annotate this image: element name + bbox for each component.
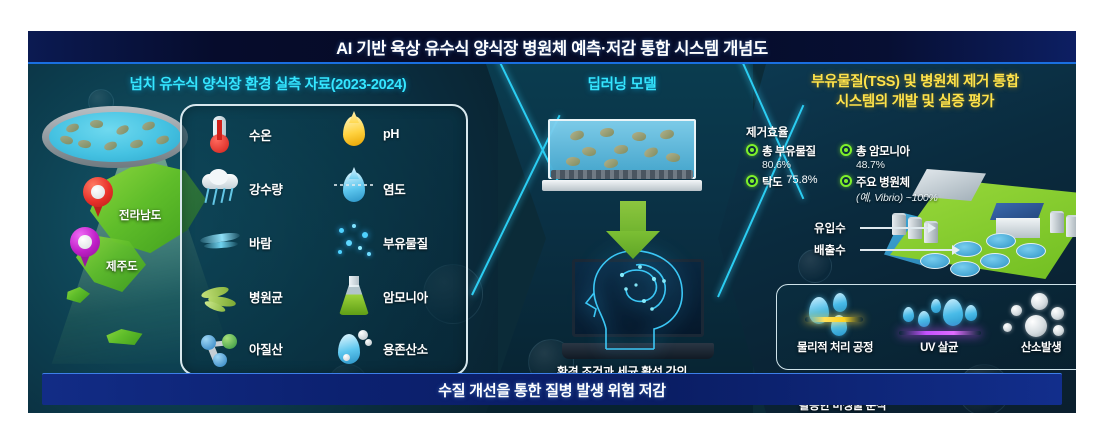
- green-down-arrow-icon: [606, 201, 660, 259]
- bullet-icon: [840, 144, 852, 156]
- parameter-row: 수온: [200, 114, 271, 154]
- infographic-poster: AI 기반 육상 유수식 양식장 병원체 예측·저감 통합 시스템 개념도 넙치…: [28, 31, 1076, 413]
- treatment-label: 산소발생: [989, 339, 1076, 355]
- efficiency-name: 총 부유물질: [762, 143, 816, 159]
- map-pin-label-jeollanamdo: 전라남도: [119, 207, 161, 223]
- flow-line-effluent: [860, 249, 952, 251]
- parameter-label: pH: [383, 127, 399, 141]
- thermometer-icon: [200, 114, 240, 154]
- bullet-icon: [840, 175, 852, 187]
- parameter-row: 강수량: [200, 168, 283, 208]
- efficiency-value: 80.6%: [762, 159, 816, 171]
- oxygen-generation-icon: [989, 291, 1076, 339]
- parameter-label: 수온: [249, 125, 271, 144]
- parameter-label: 용존산소: [383, 339, 428, 358]
- right-heading-line2: 시스템의 개발 및 실증 평가: [750, 93, 1076, 113]
- water-drop-ph-icon: [334, 114, 374, 154]
- parameter-label: 부유물질: [383, 233, 428, 252]
- flow-arrow-influent-icon: [928, 223, 936, 233]
- treatment-label: 물리적 처리 공정: [783, 339, 887, 355]
- parameter-row: 암모니아: [334, 276, 428, 316]
- efficiency-name: 주요 병원체: [856, 174, 910, 190]
- bacteria-icon: [200, 276, 240, 316]
- fish-tank-illustration: [548, 119, 696, 191]
- salinity-drop-icon: [334, 168, 374, 208]
- physical-treatment-icon: [783, 291, 887, 339]
- wind-icon: [200, 222, 240, 262]
- flow-line-influent: [860, 227, 928, 229]
- efficiency-item-turbidity: 탁도 75.8%: [746, 174, 818, 190]
- parameter-row: 바람: [200, 222, 271, 262]
- parameter-label: 병원균: [249, 287, 283, 306]
- treatment-column-physical: 물리적 처리 공정: [783, 291, 887, 365]
- uv-sterilization-icon: [887, 291, 991, 339]
- parameter-row: pH: [334, 114, 399, 154]
- center-section-heading: 딥러닝 모델: [526, 73, 718, 94]
- map-pin-jejudo[interactable]: [70, 227, 100, 267]
- poster-title: AI 기반 육상 유수식 양식장 병원체 예측·저감 통합 시스템 개념도: [28, 35, 1076, 59]
- bullet-icon: [746, 144, 758, 156]
- efficiency-item-tss: 총 부유물질 80.6%: [746, 143, 816, 171]
- poster-title-bar: AI 기반 육상 유수식 양식장 병원체 예측·저감 통합 시스템 개념도: [28, 31, 1076, 64]
- fish-pond-disc-illustration: [42, 106, 188, 168]
- dissolved-oxygen-icon: [334, 328, 374, 368]
- efficiency-item-pathogen: 주요 병원체 (예, Vibrio) ~100%: [840, 174, 938, 205]
- ai-brain-hologram-icon: [584, 245, 696, 355]
- parameter-label: 바람: [249, 233, 271, 252]
- parameter-label: 암모니아: [383, 287, 428, 306]
- efficiency-name: 탁도: [762, 174, 782, 190]
- efficiency-value: 48.7%: [856, 159, 910, 171]
- parameter-row: 부유물질: [334, 222, 428, 262]
- rain-cloud-icon: [200, 168, 240, 208]
- flow-arrow-effluent-icon: [952, 245, 960, 255]
- parameter-row: 아질산: [200, 328, 283, 368]
- flow-label-effluent: 배출수: [814, 242, 846, 258]
- left-section-heading: 넙치 유수식 양식장 환경 실측 자료(2023-2024): [68, 73, 468, 94]
- environment-parameter-card: 수온 강수량 바람 병: [180, 104, 468, 376]
- treatment-column-oxygen: 산소발생: [989, 291, 1076, 365]
- right-heading-line1: 부유물질(TSS) 및 병원체 제거 통합: [750, 73, 1076, 93]
- bullet-icon: [746, 175, 758, 187]
- efficiency-item-ammonia: 총 암모니아 48.7%: [840, 143, 910, 171]
- parameter-row: 병원균: [200, 276, 283, 316]
- parameter-label: 강수량: [249, 179, 283, 198]
- poster-footer-text: 수질 개선을 통한 질병 발생 위험 저감: [42, 379, 1062, 400]
- molecule-icon: [200, 328, 240, 368]
- removal-efficiency-title: 제거효율: [746, 124, 788, 140]
- treatment-label: UV 살균: [887, 339, 991, 355]
- efficiency-value: 75.8%: [786, 174, 817, 186]
- poster-footer-bar: 수질 개선을 통한 질병 발생 위험 저감: [42, 373, 1062, 405]
- parameter-row: 염도: [334, 168, 405, 208]
- parameter-label: 아질산: [249, 339, 283, 358]
- suspended-solids-icon: [334, 222, 374, 262]
- efficiency-name: 총 암모니아: [856, 143, 910, 159]
- treatment-process-card: 물리적 처리 공정 UV 살균 산소발생: [776, 284, 1076, 370]
- treatment-column-uv: UV 살균: [887, 291, 991, 365]
- map-pin-label-jejudo: 제주도: [106, 258, 138, 274]
- efficiency-value: (예, Vibrio) ~100%: [856, 190, 938, 205]
- parameter-row: 용존산소: [334, 328, 428, 368]
- map-pin-jeollanamdo[interactable]: [83, 177, 113, 217]
- right-section-heading: 부유물질(TSS) 및 병원체 제거 통합 시스템의 개발 및 실증 평가: [750, 73, 1076, 112]
- flow-label-influent: 유입수: [814, 220, 846, 236]
- flask-icon: [334, 276, 374, 316]
- parameter-label: 염도: [383, 179, 405, 198]
